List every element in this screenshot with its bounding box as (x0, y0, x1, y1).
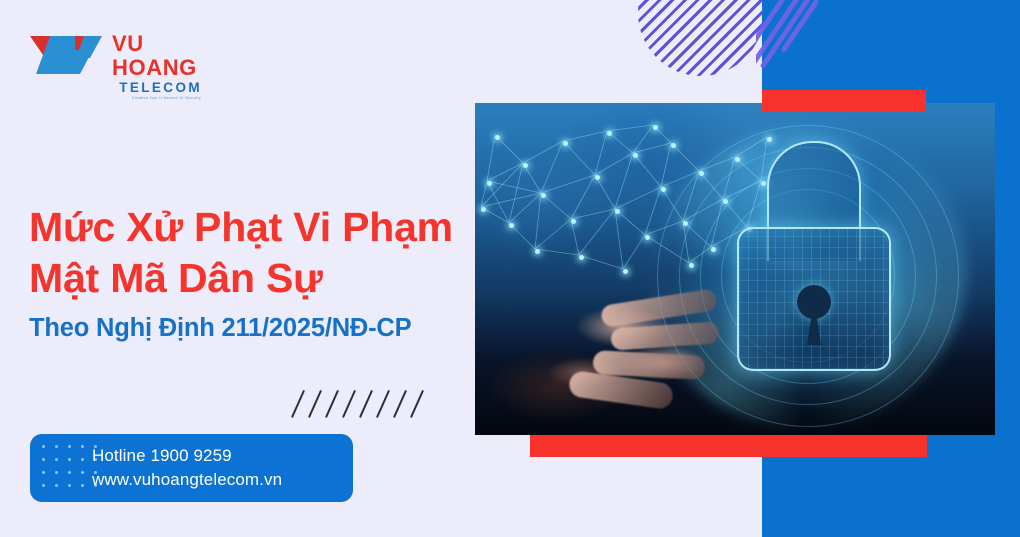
slash-decor (297, 389, 432, 419)
headline-block: Mức Xử Phạt Vi Phạm Mật Mã Dân Sự Theo N… (29, 202, 489, 343)
contact-lines: Hotline 1900 9259 www.vuhoangtelecom.vn (92, 444, 282, 492)
padlock-keyhole (797, 285, 831, 319)
red-accent-bar-bottom (530, 435, 927, 457)
padlock-icon (737, 141, 887, 371)
open-hand-graphic (483, 271, 733, 435)
brand-logo[interactable]: VU HOANG TELECOM Creative Your It Servic… (28, 28, 203, 86)
hero-image (475, 103, 995, 435)
logo-name-primary: VU HOANG (112, 32, 203, 80)
banner-canvas: VU HOANG TELECOM Creative Your It Servic… (0, 0, 1020, 537)
headline-line-2: Mật Mã Dân Sự (29, 253, 489, 304)
logo-name-secondary: TELECOM (112, 81, 203, 95)
logo-tagline: Creative Your It Service Or Security (112, 96, 203, 101)
website-text[interactable]: www.vuhoangtelecom.vn (92, 468, 282, 492)
striped-circle-decor (638, 0, 764, 76)
padlock-body (737, 227, 891, 371)
red-accent-bar-top (762, 90, 926, 112)
headline-line-1: Mức Xử Phạt Vi Phạm (29, 202, 489, 253)
vh-monogram-icon (28, 28, 108, 84)
contact-box[interactable]: Hotline 1900 9259 www.vuhoangtelecom.vn (30, 434, 353, 502)
logo-wordmark: VU HOANG TELECOM Creative Your It Servic… (112, 32, 203, 101)
headline-subtitle: Theo Nghị Định 211/2025/NĐ-CP (29, 313, 489, 343)
hotline-text[interactable]: Hotline 1900 9259 (92, 444, 282, 468)
diagonal-accent-decor (756, 0, 818, 72)
